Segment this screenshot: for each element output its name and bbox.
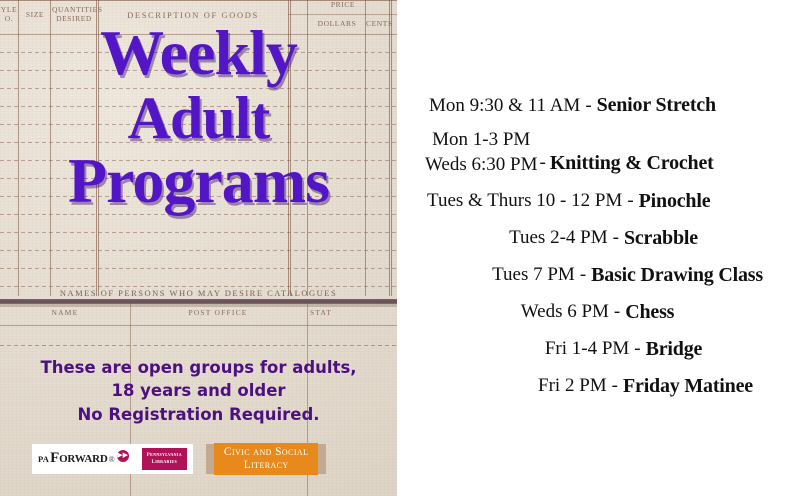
schedule-dash: - xyxy=(627,190,633,212)
schedule-dash: - xyxy=(580,264,586,286)
csl-line-2: Literacy xyxy=(224,459,308,472)
schedule-time: Tues 2-4 PM xyxy=(509,227,608,249)
pa-forward-logo: PA Forward ® ▶▶ Pennsylvania Libraries xyxy=(32,444,193,474)
ledger-col-name: Name xyxy=(10,309,120,318)
schedule-row-senior-stretch: Mon 9:30 & 11 AM - Senior Stretch xyxy=(407,94,800,117)
pa-forward-pa: PA xyxy=(38,454,49,464)
ledger-col-quantities: Quantities Desired xyxy=(52,6,96,23)
pa-forward-word: Forward xyxy=(50,450,108,467)
schedule-time: Mon 1-3 PM Weds 6:30 PM xyxy=(425,128,537,177)
ledger-col-style-no: yle o. xyxy=(0,6,18,23)
csl-line-1: Civic and Social xyxy=(224,446,308,459)
title-line-2: Adult xyxy=(0,91,397,146)
schedule-time: Fri 2 PM xyxy=(538,375,607,397)
eligibility-line-2: 18 years and older xyxy=(0,379,397,402)
schedule-time: Fri 1-4 PM xyxy=(545,338,629,360)
pa-forward-registered: ® xyxy=(109,455,115,464)
schedule-program: Bridge xyxy=(646,338,703,361)
ledger-col-state: Stat xyxy=(310,309,390,318)
title-line-3: Programs xyxy=(0,152,397,211)
ledger-section-header: Names of Persons Who May Desire Catalogu… xyxy=(0,289,397,299)
title-line-1: Weekly xyxy=(0,24,397,83)
poster-title: Weekly Adult Programs xyxy=(0,24,397,211)
schedule-dash: - xyxy=(634,338,640,360)
schedule-row-scrabble: Tues 2-4 PM - Scrabble xyxy=(407,227,794,250)
schedule-dash: - xyxy=(614,301,620,323)
schedule-time: Mon 9:30 & 11 AM xyxy=(429,95,580,117)
schedule-time: Tues 7 PM xyxy=(492,264,575,286)
schedule-row-knitting-crochet: Mon 1-3 PM Weds 6:30 PM - Knitting & Cro… xyxy=(407,128,800,177)
schedule-row-friday-matinee: Fri 2 PM - Friday Matinee xyxy=(407,375,800,398)
schedule-row-pinochle: Tues & Thurs 10 - 12 PM - Pinochle xyxy=(407,190,800,213)
ledger-background-panel: yle o. Size Quantities Desired Descripti… xyxy=(0,0,397,496)
schedule-row-chess: Weds 6 PM - Chess xyxy=(407,301,788,324)
schedule-program: Pinochle xyxy=(639,190,711,213)
schedule-time: Tues & Thurs 10 - 12 PM xyxy=(427,190,622,212)
schedule-program: Basic Drawing Class xyxy=(591,264,763,287)
ledger-col-price: Price xyxy=(289,1,397,10)
schedule-time-line-2: Weds 6:30 PM xyxy=(425,153,537,177)
schedule-row-basic-drawing-class: Tues 7 PM - Basic Drawing Class xyxy=(407,264,800,287)
pa-libraries-line-2: Libraries xyxy=(147,459,182,466)
schedule-dash: - xyxy=(585,95,591,117)
ledger-col-size: Size xyxy=(20,11,50,20)
schedule-program: Knitting & Crochet xyxy=(550,152,714,175)
pennsylvania-libraries-logo: Pennsylvania Libraries xyxy=(142,448,187,470)
schedule-time-line-1: Mon 1-3 PM xyxy=(425,128,537,152)
schedule-program: Senior Stretch xyxy=(597,94,716,117)
logo-row: PA Forward ® ▶▶ Pennsylvania Libraries C… xyxy=(32,444,326,474)
eligibility-line-3: No Registration Required. xyxy=(0,403,397,426)
fast-forward-icon: ▶▶ xyxy=(117,450,129,462)
schedule-row-bridge: Fri 1-4 PM - Bridge xyxy=(407,338,800,361)
schedule-program: Friday Matinee xyxy=(623,375,753,398)
schedule-program: Chess xyxy=(625,301,674,324)
schedule-program: Scrabble xyxy=(624,227,698,250)
ledger-col-post-office: Post Office xyxy=(132,309,304,318)
civic-social-literacy-frame: Civic and Social Literacy xyxy=(206,444,326,474)
poster-canvas: yle o. Size Quantities Desired Descripti… xyxy=(0,0,800,496)
pa-forward-wordmark: PA Forward ® ▶▶ xyxy=(38,450,129,469)
eligibility-note: These are open groups for adults, 18 yea… xyxy=(0,356,397,426)
pa-libraries-line-1: Pennsylvania xyxy=(147,452,182,459)
civic-social-literacy-logo: Civic and Social Literacy xyxy=(214,443,318,475)
schedule-dash: - xyxy=(612,375,618,397)
schedule-time: Weds 6 PM xyxy=(521,301,609,323)
eligibility-line-1: These are open groups for adults, xyxy=(0,356,397,379)
schedule-panel: Mon 9:30 & 11 AM - Senior Stretch Mon 1-… xyxy=(397,0,800,496)
schedule-dash: - xyxy=(613,227,619,249)
schedule-dash: - xyxy=(539,152,545,174)
